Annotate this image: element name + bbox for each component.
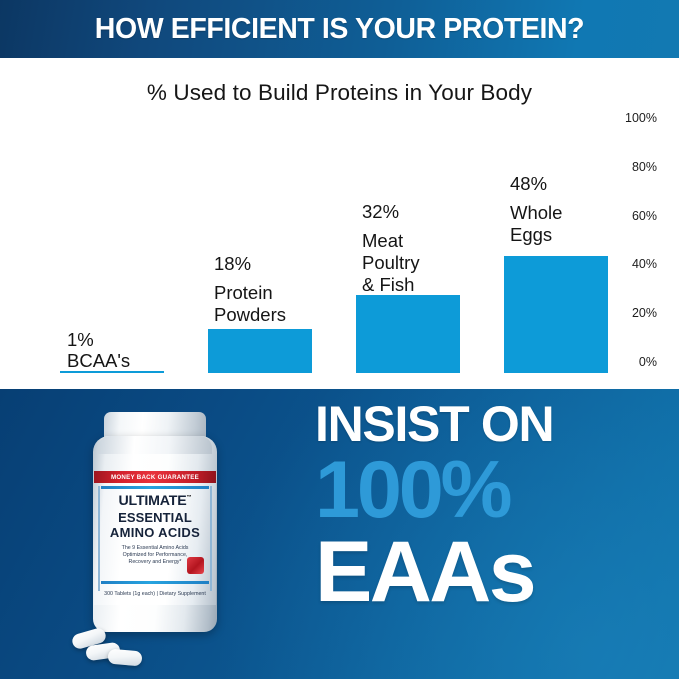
bar-value-protein-powders: 18%: [214, 253, 251, 275]
promo-panel: MONEY BACK GUARANTEE ULTIMATE™ ESSENTIAL…: [0, 389, 679, 679]
brand-name-ultimate-row: ULTIMATE™: [94, 492, 216, 510]
bar-value-meat-poultry-fish: 32%: [362, 201, 399, 223]
bar-meat-poultry-fish[interactable]: [356, 295, 460, 373]
brand-name-essential: ESSENTIAL: [94, 510, 216, 525]
trademark-symbol: ™: [187, 495, 192, 501]
y-axis-tick-80: 80%: [597, 160, 657, 174]
page-title: HOW EFFICIENT IS YOUR PROTEIN?: [0, 0, 679, 58]
y-axis-tick-100: 100%: [597, 111, 657, 125]
bar-label-bcaas: BCAA's: [67, 350, 130, 372]
brand-name-amino-acids: AMINO ACIDS: [94, 525, 216, 540]
money-back-guarantee-text: MONEY BACK GUARANTEE: [111, 474, 199, 481]
label-divider-top: [101, 486, 209, 489]
chart-plot-area: 100% 80% 60% 40% 20% 0% 1% BCAA's 18% Pr…: [0, 58, 679, 389]
label-serving-info: 300 Tablets (1g each) | Dietary Suppleme…: [94, 591, 216, 597]
product-bottle-image: MONEY BACK GUARANTEE ULTIMATE™ ESSENTIAL…: [60, 412, 250, 677]
bar-whole-eggs[interactable]: [504, 256, 608, 373]
bottle-label: MONEY BACK GUARANTEE ULTIMATE™ ESSENTIAL…: [94, 471, 216, 605]
bar-label-whole-eggs: Whole Eggs: [510, 202, 562, 246]
brand-name-ultimate: ULTIMATE: [118, 494, 186, 509]
bottle-shoulder: [98, 436, 212, 454]
promo-line-eaas: EAAs: [315, 529, 679, 615]
bar-value-bcaas: 1%: [67, 329, 94, 351]
capsule-icon: [107, 649, 142, 667]
bar-label-protein-powders: Protein Powders: [214, 282, 286, 326]
brand-block: ULTIMATE™ ESSENTIAL AMINO ACIDS: [94, 492, 216, 540]
infographic-root: HOW EFFICIENT IS YOUR PROTEIN? % Used to…: [0, 0, 679, 679]
award-seal-icon: [187, 557, 204, 574]
label-divider-bottom: [101, 581, 209, 584]
chart-panel: % Used to Build Proteins in Your Body 10…: [0, 58, 679, 389]
bar-label-meat-poultry-fish: Meat Poultry & Fish: [362, 230, 420, 296]
promo-headline: INSIST ON 100% EAAs: [315, 399, 679, 615]
promo-line-insist-on: INSIST ON: [315, 399, 679, 449]
bar-value-whole-eggs: 48%: [510, 173, 547, 195]
bar-protein-powders[interactable]: [208, 329, 312, 373]
money-back-guarantee-banner: MONEY BACK GUARANTEE: [94, 471, 216, 483]
promo-line-100-percent: 100%: [315, 450, 679, 531]
y-axis-tick-60: 60%: [597, 209, 657, 223]
